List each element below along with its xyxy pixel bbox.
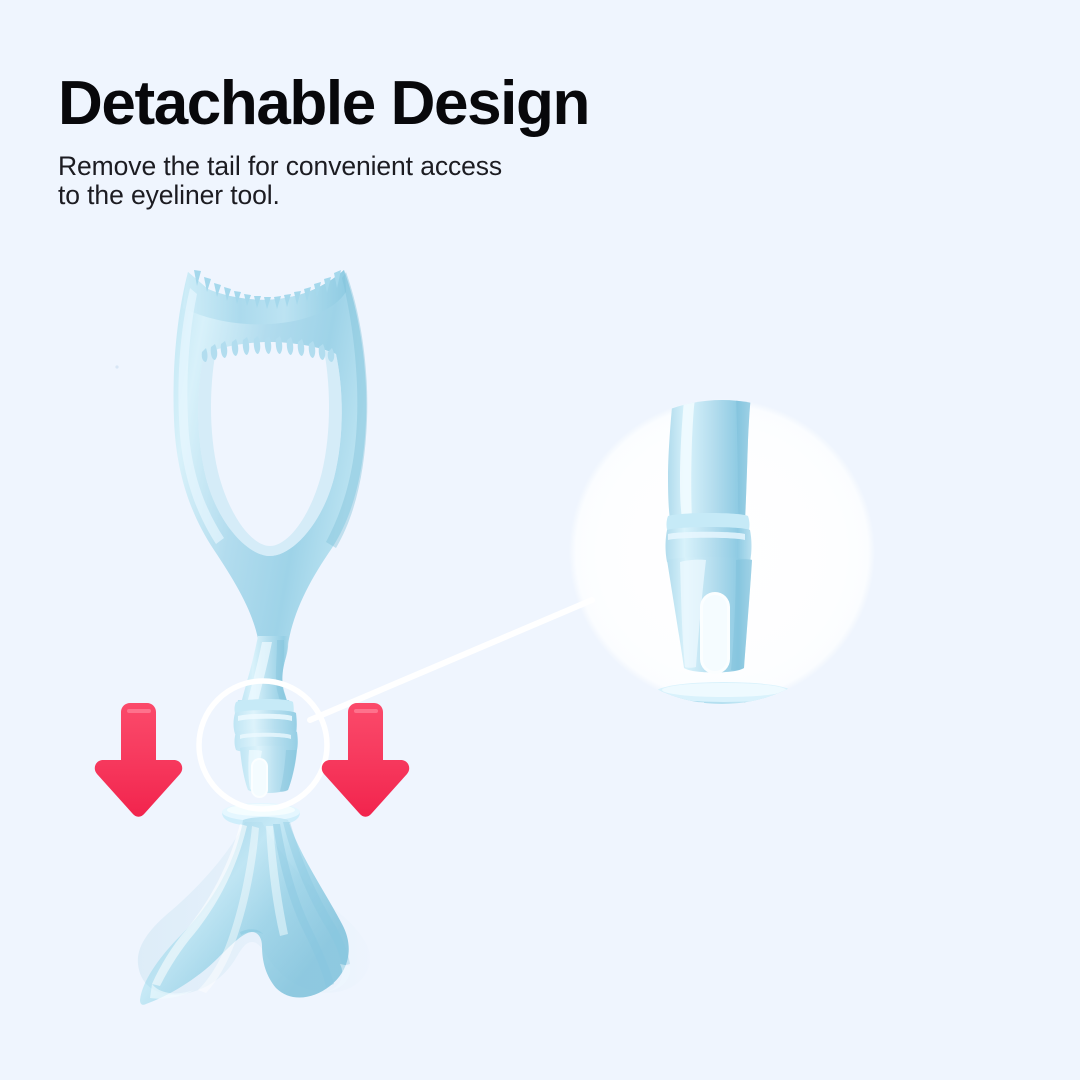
detach-point-magnified-view <box>569 393 875 770</box>
product-body <box>130 270 390 1020</box>
callout-connector-line <box>310 600 592 720</box>
arrow-left-down <box>95 703 182 817</box>
infographic-canvas: Detachable Design Remove the tail for co… <box>0 0 1080 1080</box>
tail-fin <box>130 803 390 1020</box>
subtitle-line-1: Remove the tail for convenient access <box>58 152 758 181</box>
arrow-right-down <box>322 703 409 817</box>
subtitle-line-2: to the eyeliner tool. <box>58 181 758 210</box>
subtitle: Remove the tail for convenient access to… <box>58 152 758 210</box>
page-title: Detachable Design <box>58 72 758 135</box>
background-speck <box>115 365 118 368</box>
header-text-block: Detachable Design Remove the tail for co… <box>58 72 758 210</box>
comb-head <box>174 270 368 644</box>
detach-neck <box>234 699 298 798</box>
